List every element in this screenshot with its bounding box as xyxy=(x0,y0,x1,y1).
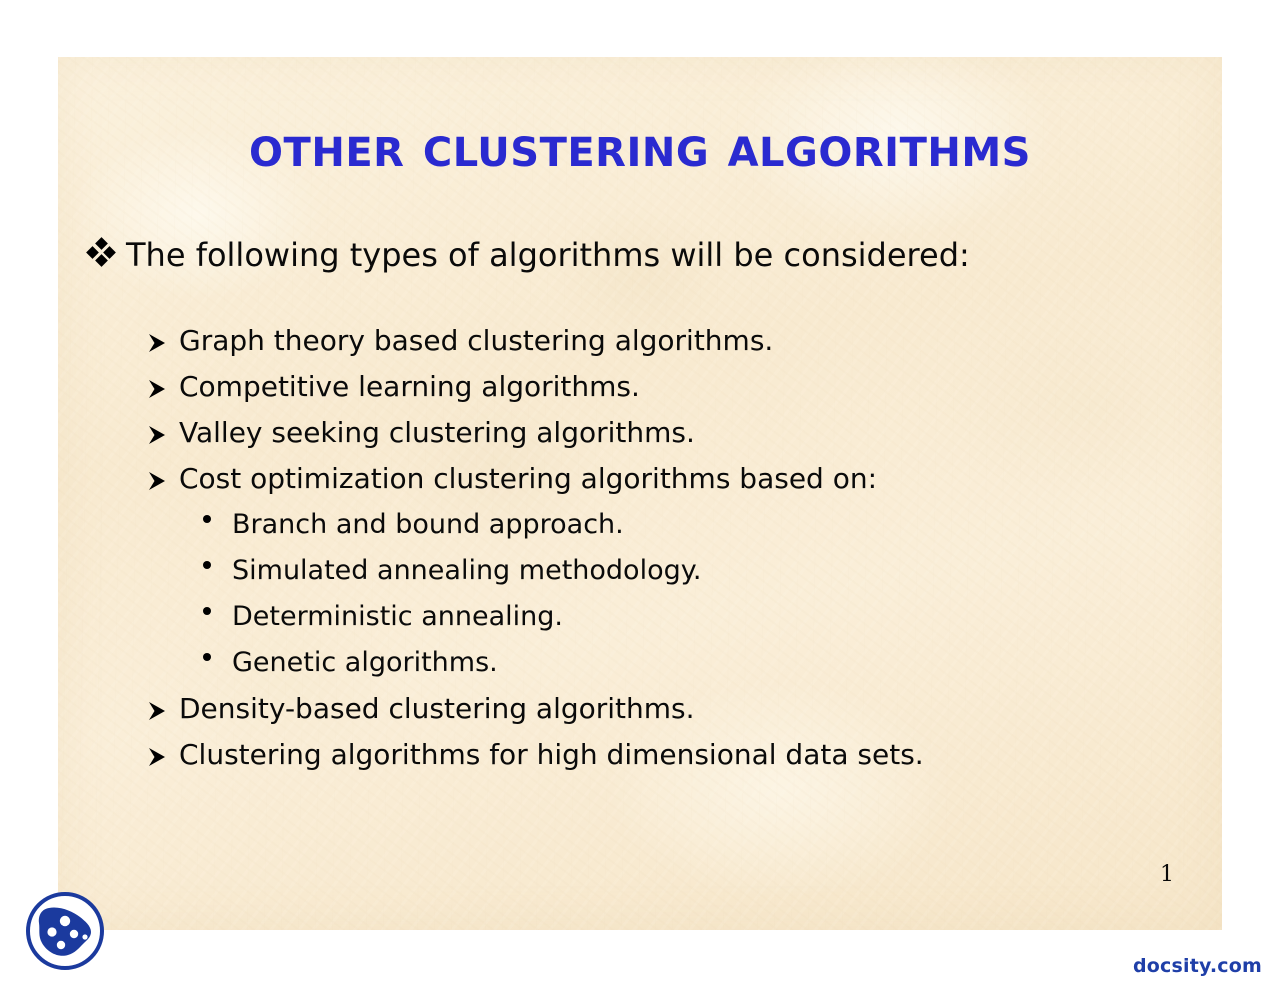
arrowhead-bullet-icon xyxy=(146,741,179,768)
slide-body: The following types of algorithms will b… xyxy=(58,237,1222,787)
list-item-label: Branch and bound approach. xyxy=(232,511,624,538)
slide-canvas: OTHER CLUSTERING ALGORITHMS The followin… xyxy=(58,57,1222,930)
list-item: Cost optimization clustering algorithms … xyxy=(146,465,1222,493)
round-dot-bullet-icon xyxy=(203,649,232,661)
list-item: Branch and bound approach. xyxy=(203,511,1222,538)
list-item-label: Valley seeking clustering algorithms. xyxy=(179,419,695,447)
list-item-label: Competitive learning algorithms. xyxy=(179,373,640,401)
intro-bullet-line: The following types of algorithms will b… xyxy=(88,237,1222,275)
algorithm-list: Graph theory based clustering algorithms… xyxy=(58,327,1222,769)
footer-brand-label[interactable]: docsity.com xyxy=(1133,955,1262,977)
round-dot-bullet-icon xyxy=(203,557,232,569)
list-item: Competitive learning algorithms. xyxy=(146,373,1222,401)
round-dot-bullet-icon xyxy=(203,603,232,615)
list-item-label: Genetic algorithms. xyxy=(232,649,498,676)
page-number: 1 xyxy=(1160,862,1174,887)
list-item-label: Density-based clustering algorithms. xyxy=(179,695,695,723)
arrowhead-bullet-icon xyxy=(146,327,179,354)
round-dot-bullet-icon xyxy=(203,511,232,523)
arrowhead-bullet-icon xyxy=(146,465,179,492)
list-item: Density-based clustering algorithms. xyxy=(146,695,1222,723)
list-item: Graph theory based clustering algorithms… xyxy=(146,327,1222,355)
diamond-cluster-bullet-icon xyxy=(88,237,126,265)
list-item-label: Deterministic annealing. xyxy=(232,603,563,630)
list-item: Deterministic annealing. xyxy=(203,603,1222,630)
list-item: Clustering algorithms for high dimension… xyxy=(146,741,1222,769)
list-item: Simulated annealing methodology. xyxy=(203,557,1222,584)
list-item-label: Graph theory based clustering algorithms… xyxy=(179,327,773,355)
list-item: Genetic algorithms. xyxy=(203,649,1222,676)
docsity-cookie-logo-icon[interactable] xyxy=(22,888,108,974)
arrowhead-bullet-icon xyxy=(146,695,179,722)
page-title: OTHER CLUSTERING ALGORITHMS xyxy=(58,130,1222,176)
intro-text: The following types of algorithms will b… xyxy=(126,237,970,275)
arrowhead-bullet-icon xyxy=(146,373,179,400)
list-item-label: Simulated annealing methodology. xyxy=(232,557,701,584)
list-item-label: Cost optimization clustering algorithms … xyxy=(179,465,877,493)
cost-optimization-sublist: Branch and bound approach. Simulated ann… xyxy=(58,511,1222,676)
arrowhead-bullet-icon xyxy=(146,419,179,446)
list-item-label: Clustering algorithms for high dimension… xyxy=(179,741,924,769)
list-item: Valley seeking clustering algorithms. xyxy=(146,419,1222,447)
